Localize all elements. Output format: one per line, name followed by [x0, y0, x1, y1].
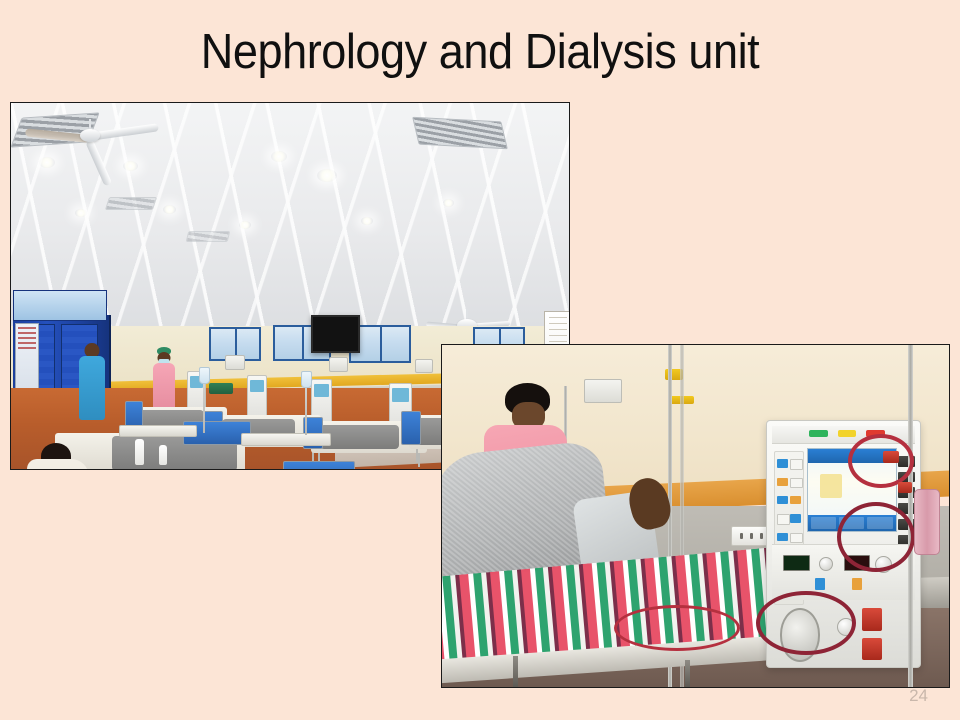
page-number: 24: [909, 686, 928, 706]
iv-bag: [301, 371, 312, 388]
dialyzer-cartridge: [914, 489, 940, 555]
machine-button[interactable]: [852, 578, 862, 590]
blood-tubing-line: [848, 434, 914, 488]
patient-monitor: [225, 355, 245, 370]
door-glass-panel: [13, 290, 107, 321]
downlight-icon: [443, 199, 454, 207]
green-linen-bundle: [209, 383, 233, 394]
bedside-dialysis-treatment-photo: [441, 344, 950, 688]
seated-relative: [27, 459, 89, 469]
line-clamp[interactable]: [883, 451, 899, 463]
water-bottle: [159, 445, 167, 465]
slide: Nephrology and Dialysis unit: [0, 0, 960, 720]
downlight-icon: [271, 151, 287, 162]
line-clamp[interactable]: [898, 482, 912, 493]
patient-monitor: [415, 359, 433, 373]
ac-vent-icon: [412, 117, 508, 150]
downlight-icon: [239, 221, 251, 229]
wall-mounted-television: [311, 315, 360, 353]
ceiling-panel: [105, 197, 157, 210]
machine-lcd-readout: [783, 555, 809, 571]
indicator-light-green: [809, 430, 828, 437]
downlight-icon: [361, 217, 373, 225]
page-title: Nephrology and Dialysis unit: [38, 26, 921, 80]
machine-pole: [908, 345, 913, 687]
machine-button[interactable]: [815, 578, 825, 590]
bed-leg: [513, 656, 518, 687]
downlight-icon: [123, 161, 138, 171]
blood-tubing-line: [614, 605, 740, 651]
downlight-icon: [317, 169, 337, 182]
bedside-photo-content: [442, 345, 949, 687]
machine-knob[interactable]: [819, 557, 833, 571]
downlight-icon: [39, 157, 55, 168]
water-bottle: [135, 439, 144, 465]
blood-tubing-line: [756, 591, 856, 655]
bedside-tray: [119, 425, 197, 437]
iv-bag: [199, 367, 210, 384]
hospital-bed: [219, 463, 399, 469]
downlight-icon: [75, 209, 87, 217]
ceiling-panel: [186, 231, 231, 242]
patient-monitor: [329, 357, 348, 372]
attendant-in-blue-scrubs: [79, 343, 105, 421]
line-clamp[interactable]: [862, 638, 882, 660]
line-clamp[interactable]: [862, 608, 882, 630]
indicator-light-yellow: [838, 430, 857, 437]
bedside-tray: [241, 433, 331, 446]
downlight-icon: [163, 205, 176, 214]
screen-status-area: [820, 474, 841, 498]
bed-leg: [685, 660, 690, 687]
